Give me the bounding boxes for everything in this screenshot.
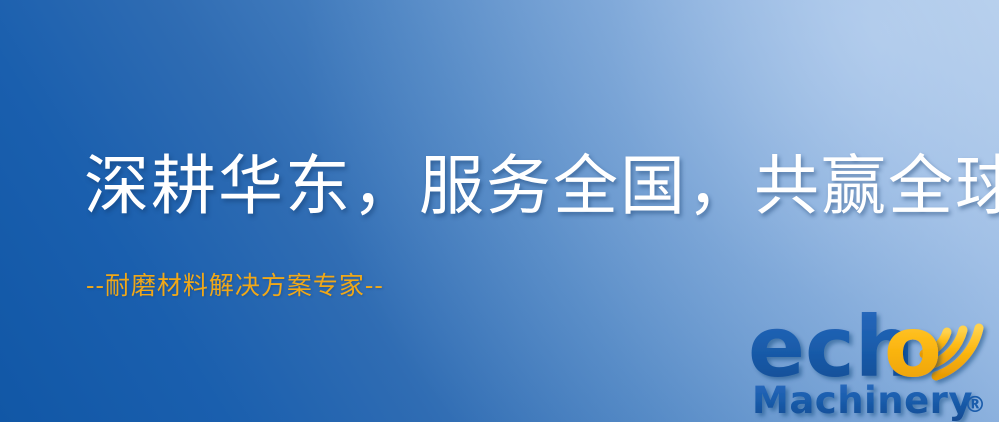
page-subtitle: --耐磨材料解决方案专家--	[86, 266, 384, 302]
echo-machinery-logo[interactable]: ech o Machinery ®	[748, 292, 999, 422]
logo-tagline-machinery: Machinery	[752, 379, 973, 422]
registered-trademark-mark: ®	[964, 393, 986, 418]
hero-banner: 深耕华东，服务全国，共赢全球 --耐磨材料解决方案专家--	[0, 0, 999, 422]
page-title: 深耕华东，服务全国，共赢全球	[84, 152, 999, 222]
